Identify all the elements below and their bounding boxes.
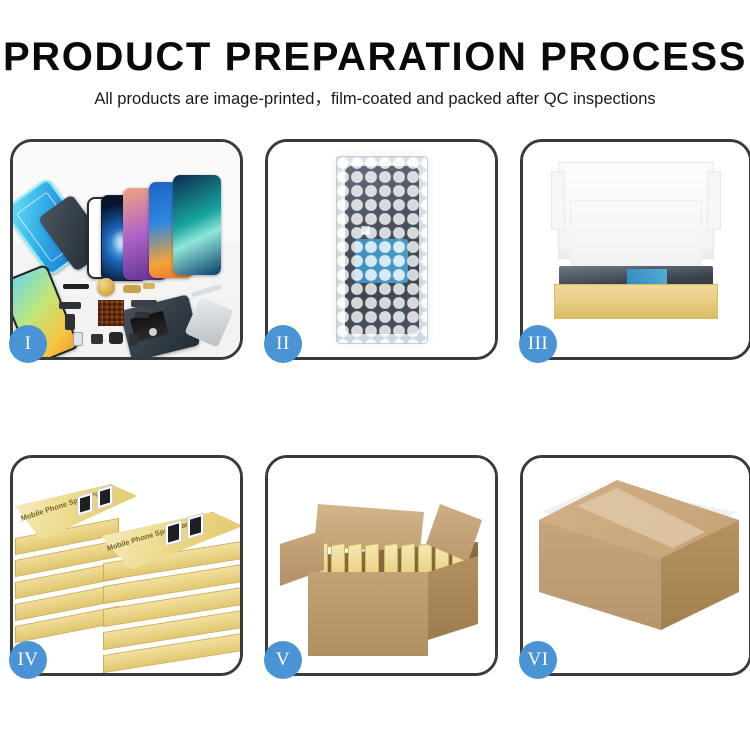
bubble-wrapped-screen	[336, 156, 428, 344]
foam-sheet	[570, 200, 702, 269]
step-panel-4[interactable]: Mobile Phone Spare Parts Mobile Pho	[10, 455, 243, 676]
page-title: PRODUCT PREPARATION PROCESS	[0, 34, 750, 80]
step-badge-2: II	[264, 325, 302, 363]
spare-part	[63, 284, 89, 289]
spare-part	[65, 314, 75, 330]
speaker-part	[97, 278, 115, 296]
phone-screen-teal	[173, 175, 221, 275]
step-badge-3: III	[519, 325, 557, 363]
page-header: PRODUCT PREPARATION PROCESS All products…	[0, 0, 750, 111]
spare-part	[135, 312, 149, 318]
step-panel-1[interactable]: I	[10, 139, 243, 360]
spare-part	[123, 285, 141, 293]
sealed-shipping-carton	[539, 480, 739, 656]
stacked-boxes: Mobile Phone Spare Parts Mobile Pho	[15, 468, 240, 668]
screw-grid-part	[98, 300, 124, 326]
open-shipping-carton	[286, 486, 482, 656]
step-panel-2[interactable]: II	[265, 139, 498, 360]
step-panel-3[interactable]: III	[520, 139, 750, 360]
spare-part	[109, 332, 123, 344]
step-panel-6[interactable]: VI	[520, 455, 750, 676]
step-badge-1: I	[9, 325, 47, 363]
step-image-5	[268, 458, 495, 673]
step-badge-6: VI	[519, 641, 557, 679]
page-subtitle: All products are image-printed，film-coat…	[0, 87, 750, 111]
step-panel-5[interactable]: V	[265, 455, 498, 676]
open-mailer-box	[547, 162, 725, 319]
spare-part	[91, 334, 103, 344]
step-image-1	[13, 142, 240, 357]
step-image-3	[523, 142, 749, 357]
spare-part	[73, 332, 83, 346]
step-image-2	[268, 142, 495, 357]
step-image-4: Mobile Phone Spare Parts Mobile Pho	[13, 458, 240, 673]
spare-part	[143, 283, 155, 289]
spare-part	[131, 300, 157, 307]
box-front-edge	[554, 302, 718, 319]
process-steps-grid: I II	[10, 139, 740, 684]
step-badge-4: IV	[9, 641, 47, 679]
spare-part	[149, 328, 157, 336]
spare-part	[129, 334, 138, 346]
carton-front	[308, 572, 428, 656]
step-image-6	[523, 458, 749, 673]
step-badge-5: V	[264, 641, 302, 679]
spare-part	[59, 302, 81, 309]
